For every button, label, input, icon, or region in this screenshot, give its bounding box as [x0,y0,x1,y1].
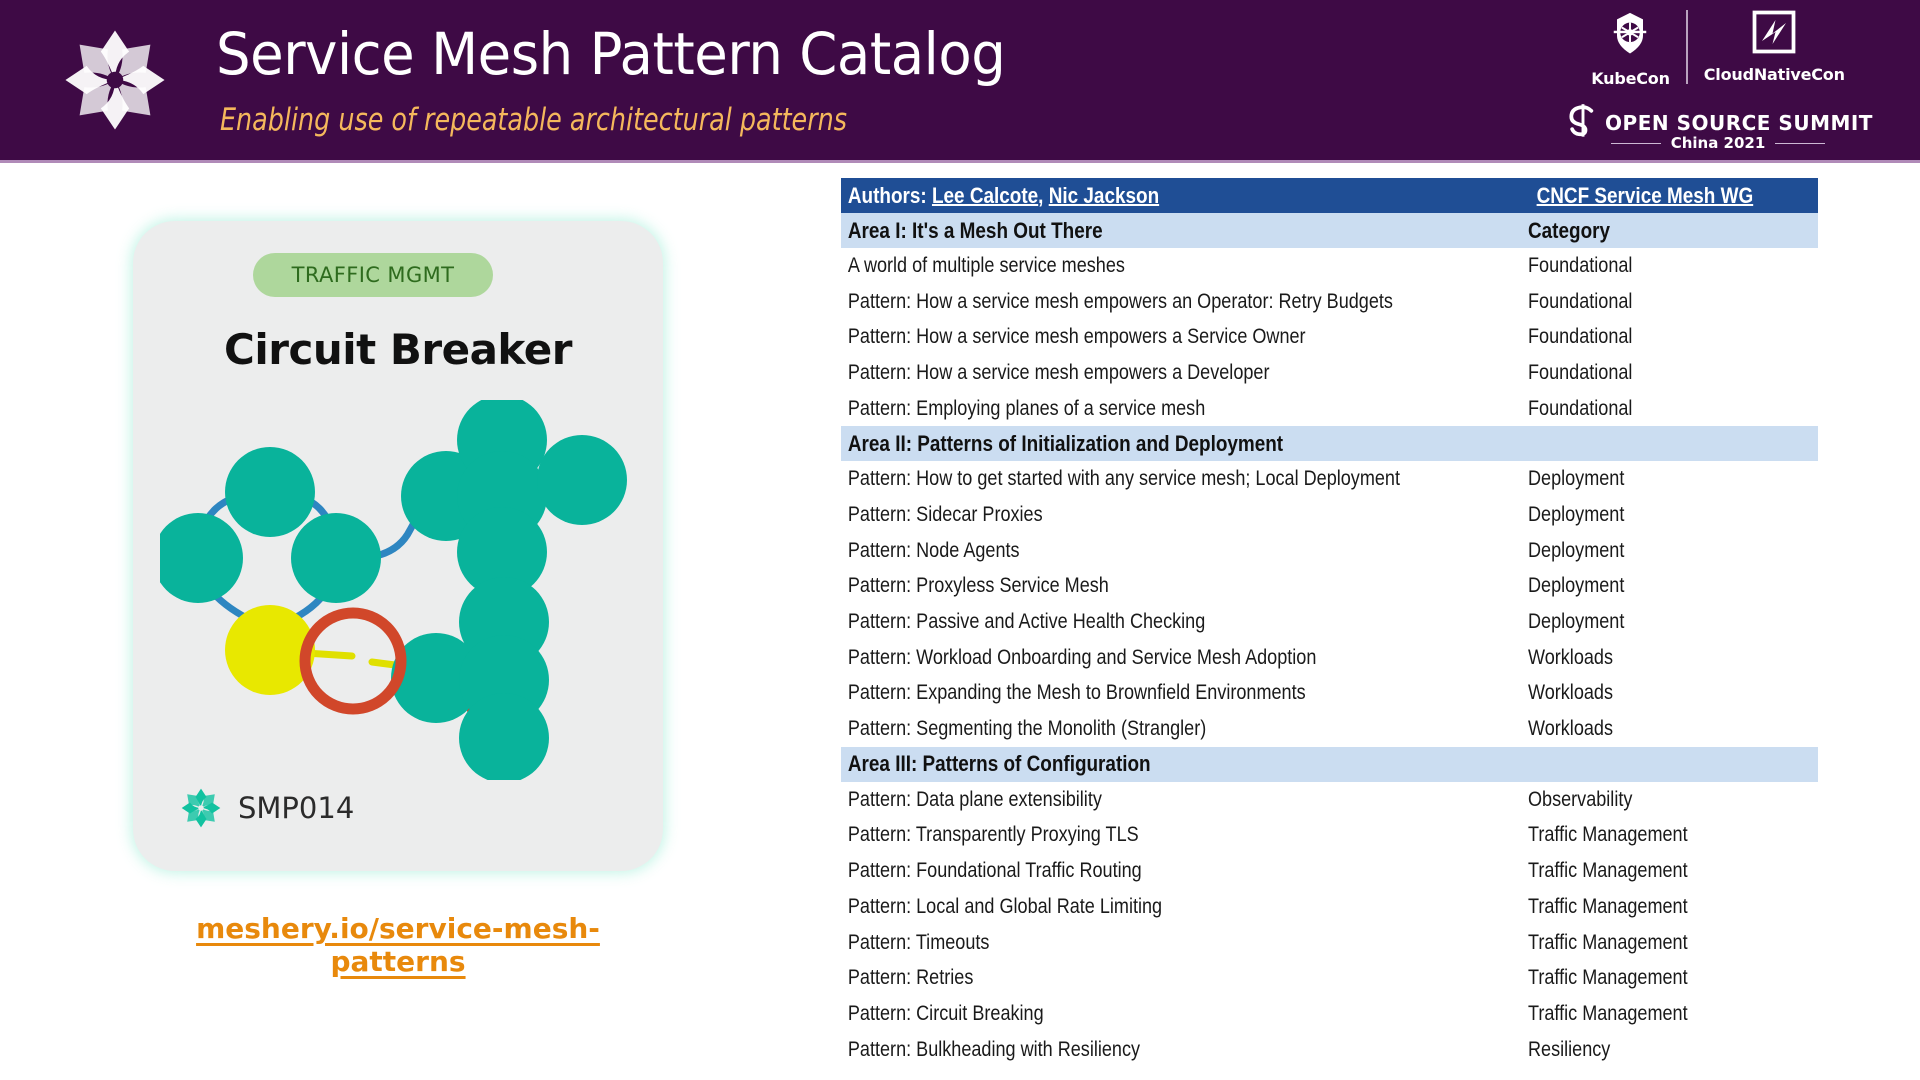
pattern-name-cell: Pattern: Bulkheading with Resiliency [841,1038,1432,1062]
table-row[interactable]: Pattern: How a service mesh empowers an … [841,284,1818,320]
table-row[interactable]: Pattern: Data plane extensibilityObserva… [841,782,1818,818]
table-row[interactable]: Pattern: Local and Global Rate LimitingT… [841,889,1818,925]
logo-divider [1686,10,1688,84]
category-cell: Resiliency [1528,1038,1771,1062]
cloudnativecon-block: CloudNativeCon [1688,8,1861,84]
rule-left [1611,143,1661,144]
category-cell: Observability [1528,788,1771,812]
pattern-catalog-table: Authors: Lee Calcote, Nic Jackson CNCF S… [841,178,1818,1067]
pattern-name-cell: Pattern: Foundational Traffic Routing [841,859,1432,883]
category-cell: Foundational [1528,290,1771,314]
pattern-name-cell: Pattern: How a service mesh empowers an … [841,290,1432,314]
category-cell: Deployment [1528,610,1771,634]
catalog-sections: Area I: It's a Mesh Out ThereCategoryA w… [841,213,1818,1067]
table-row[interactable]: Pattern: Segmenting the Monolith (Strang… [841,711,1818,747]
pattern-name-cell: Pattern: Retries [841,966,1432,990]
table-row[interactable]: Pattern: Proxyless Service MeshDeploymen… [841,569,1818,605]
table-row[interactable]: Pattern: TimeoutsTraffic Management [841,925,1818,961]
category-cell: Workloads [1528,646,1771,670]
pattern-name-cell: Pattern: Node Agents [841,539,1432,563]
category-cell: Foundational [1528,361,1771,385]
pattern-name-cell: Pattern: Expanding the Mesh to Brownfiel… [841,681,1432,705]
area-title: Area III: Patterns of Configuration [841,751,1432,777]
meshery-pinwheel-logo-icon [178,785,224,831]
pattern-name-cell: Pattern: Transparently Proxying TLS [841,823,1432,847]
cncf-service-mesh-wg-link[interactable]: CNCF Service Mesh WG [1528,183,1753,209]
table-row[interactable]: Pattern: How to get started with any ser… [841,461,1818,497]
authors-cell: Authors: Lee Calcote, Nic Jackson [841,183,1432,209]
category-cell: Foundational [1528,397,1771,421]
pattern-name-cell: Pattern: How a service mesh empowers a S… [841,325,1432,349]
category-column-header: Category [1528,218,1771,244]
area-title: Area I: It's a Mesh Out There [841,218,1432,244]
category-cell: Workloads [1528,717,1771,741]
kubernetes-helm-icon [1604,8,1656,65]
table-row[interactable]: Pattern: RetriesTraffic Management [841,960,1818,996]
pattern-name-cell: Pattern: Data plane extensibility [841,788,1432,812]
pattern-name-cell: Pattern: Employing planes of a service m… [841,397,1432,421]
pattern-name-cell: Pattern: Timeouts [841,931,1432,955]
meshery-pinwheel-logo-icon [56,14,174,146]
edition-row: China 2021 [1568,134,1868,152]
table-row[interactable]: Pattern: Employing planes of a service m… [841,391,1818,427]
area-header-row: Area II: Patterns of Initialization and … [841,426,1818,461]
table-row[interactable]: Pattern: Bulkheading with ResiliencyResi… [841,1032,1818,1068]
category-cell: Traffic Management [1528,966,1771,990]
table-row[interactable]: Pattern: Transparently Proxying TLSTraff… [841,818,1818,854]
category-cell: Deployment [1528,467,1771,491]
author-link-nic-jackson[interactable]: Nic Jackson [1049,183,1159,208]
category-cell: Traffic Management [1528,823,1771,847]
cncf-square-icon [1750,8,1798,61]
table-row[interactable]: Pattern: Expanding the Mesh to Brownfiel… [841,676,1818,712]
area-header-row: Area III: Patterns of Configuration [841,747,1818,782]
pattern-name-cell: Pattern: How to get started with any ser… [841,467,1432,491]
circuit-breaker-mesh-diagram [160,400,640,780]
pattern-name-cell: Pattern: Local and Global Rate Limiting [841,895,1432,919]
page-subtitle: Enabling use of repeatable architectural… [220,102,847,138]
rule-right [1775,143,1825,144]
category-cell: Workloads [1528,681,1771,705]
author-link-lee-calcote[interactable]: Lee Calcote [932,183,1038,208]
kubecon-block: KubeCon [1575,8,1686,88]
conference-branding: KubeCon CloudNativeCon OPEN [1568,8,1868,156]
pattern-name-cell: Pattern: Sidecar Proxies [841,503,1432,527]
table-row[interactable]: Pattern: How a service mesh empowers a S… [841,319,1818,355]
pattern-card-footer: SMP014 [178,785,354,831]
status-badge: TRAFFIC MGMT [253,253,493,297]
category-cell: Deployment [1528,574,1771,598]
table-row[interactable]: Pattern: Foundational Traffic RoutingTra… [841,853,1818,889]
pattern-id-label: SMP014 [238,791,354,825]
pattern-card-title: Circuit Breaker [133,325,663,374]
table-row[interactable]: Pattern: Workload Onboarding and Service… [841,640,1818,676]
category-cell: Foundational [1528,254,1771,278]
table-row[interactable]: A world of multiple service meshesFounda… [841,248,1818,284]
category-cell: Deployment [1528,503,1771,527]
table-row[interactable]: Pattern: Passive and Active Health Check… [841,604,1818,640]
table-row[interactable]: Pattern: Sidecar ProxiesDeployment [841,497,1818,533]
area-header-row: Area I: It's a Mesh Out ThereCategory [841,213,1818,248]
authors-separator: , [1038,183,1049,208]
table-row[interactable]: Pattern: Node AgentsDeployment [841,533,1818,569]
pattern-name-cell: A world of multiple service meshes [841,254,1432,278]
category-cell: Traffic Management [1528,895,1771,919]
page-title: Service Mesh Pattern Catalog [216,20,1005,88]
pattern-name-cell: Pattern: Circuit Breaking [841,1002,1432,1026]
pattern-name-cell: Pattern: Proxyless Service Mesh [841,574,1432,598]
conference-logos-row: KubeCon CloudNativeCon [1568,8,1868,96]
page-header: Service Mesh Pattern Catalog Enabling us… [0,0,1920,163]
authors-prefix: Authors: [848,183,927,208]
working-group-cell: CNCF Service Mesh WG [1528,183,1771,209]
cloudnativecon-label: CloudNativeCon [1704,65,1845,84]
category-cell: Traffic Management [1528,1002,1771,1026]
pattern-name-cell: Pattern: Workload Onboarding and Service… [841,646,1432,670]
category-cell: Traffic Management [1528,859,1771,883]
category-cell: Deployment [1528,539,1771,563]
category-cell: Traffic Management [1528,931,1771,955]
table-row[interactable]: Pattern: Circuit BreakingTraffic Managem… [841,996,1818,1032]
area-title: Area II: Patterns of Initialization and … [841,431,1432,457]
pattern-catalog-link[interactable]: meshery.io/service-mesh-patterns [133,912,663,978]
kubecon-label: KubeCon [1591,69,1670,88]
edition-label: China 2021 [1671,134,1766,152]
open-source-summit-label: OPEN SOURCE SUMMIT [1605,111,1873,135]
pattern-name-cell: Pattern: How a service mesh empowers a D… [841,361,1432,385]
pattern-name-cell: Pattern: Segmenting the Monolith (Strang… [841,717,1432,741]
pattern-name-cell: Pattern: Passive and Active Health Check… [841,610,1432,634]
table-row[interactable]: Pattern: How a service mesh empowers a D… [841,355,1818,391]
category-cell: Foundational [1528,325,1771,349]
authors-header-row: Authors: Lee Calcote, Nic Jackson CNCF S… [841,178,1818,213]
